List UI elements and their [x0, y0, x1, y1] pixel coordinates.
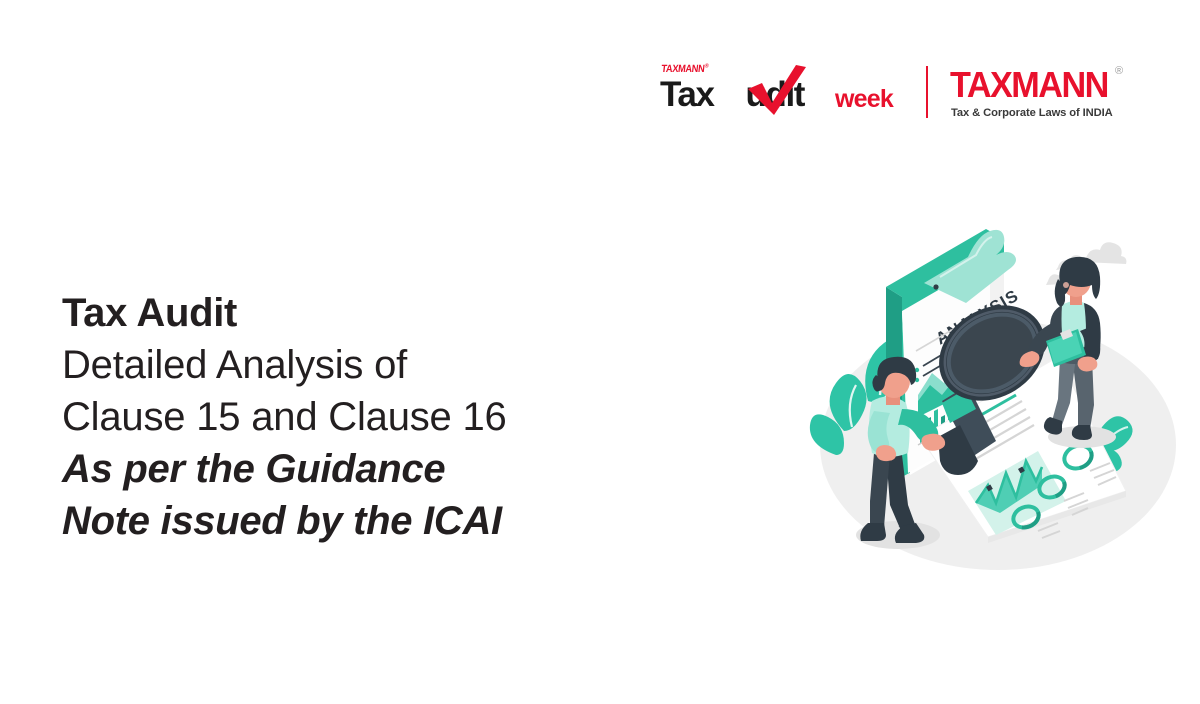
- logo-bar: TAXMANN® Taxudit week TAXMANN ® Tax & Co…: [650, 57, 1140, 127]
- headline-line-1: Tax Audit: [62, 287, 682, 339]
- headline-line-2: Detailed Analysis of: [62, 339, 682, 391]
- red-checkmark-icon: [746, 65, 808, 115]
- analysis-illustration: ANALYSIS: [790, 205, 1190, 580]
- illustration-svg: ANALYSIS: [790, 205, 1190, 580]
- week-word: week: [835, 87, 893, 112]
- taxmann-micro-text: TAXMANN: [661, 63, 705, 75]
- taxmann-micro-wordmark: TAXMANN®: [661, 63, 709, 75]
- taxmann-tagline: Tax & Corporate Laws of INDIA: [951, 107, 1113, 119]
- registered-trademark-icon: ®: [1115, 66, 1123, 77]
- headline-line-5: Note issued by the ICAI: [62, 495, 682, 547]
- taxmann-wordmark: TAXMANN: [950, 67, 1108, 103]
- headline-line-4: As per the Guidance: [62, 443, 682, 495]
- slide-canvas: TAXMANN® Taxudit week TAXMANN ® Tax & Co…: [0, 0, 1200, 704]
- headline-line-3: Clause 15 and Clause 16: [62, 391, 682, 443]
- tax-audit-week-logo: TAXMANN® Taxudit week: [650, 60, 908, 124]
- logo-divider: [926, 66, 928, 118]
- tax-word: Tax: [660, 75, 714, 114]
- headline-block: Tax Audit Detailed Analysis of Clause 15…: [62, 287, 682, 547]
- taxmann-micro-registered: ®: [704, 64, 708, 70]
- taxmann-corporate-logo: TAXMANN ® Tax & Corporate Laws of INDIA: [950, 61, 1135, 123]
